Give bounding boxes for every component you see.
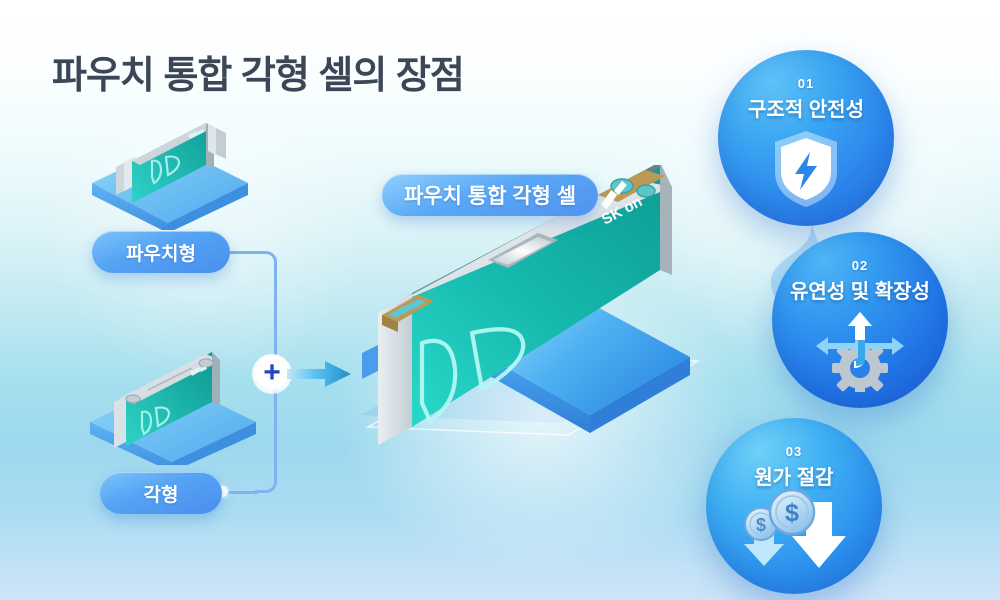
benefit-label-1: 구조적 안전성 bbox=[748, 93, 864, 122]
shield-bolt-icon bbox=[771, 128, 841, 210]
page-title: 파우치 통합 각형 셀의 장점 bbox=[52, 44, 464, 99]
label-integrated-cell[interactable]: 파우치 통합 각형 셀 bbox=[382, 174, 598, 216]
plus-icon: + bbox=[252, 354, 292, 394]
benefit-badge-2[interactable]: 02 유연성 및 확장성 bbox=[772, 232, 948, 408]
prismatic-cell-icon bbox=[80, 340, 270, 465]
benefit-label-2: 유연성 및 확장성 bbox=[790, 275, 930, 304]
svg-text:$: $ bbox=[756, 515, 766, 535]
pouch-cell-icon bbox=[80, 105, 260, 230]
benefit-number-2: 02 bbox=[852, 258, 868, 273]
gear-arrows-icon bbox=[812, 306, 908, 392]
infographic-canvas: 파우치 통합 각형 셀의 장점 bbox=[0, 0, 1000, 600]
benefit-badge-1[interactable]: 01 구조적 안전성 bbox=[718, 50, 894, 226]
plus-symbol: + bbox=[263, 358, 281, 388]
connector-corner-bottom bbox=[255, 471, 277, 493]
right-arrow-icon bbox=[287, 360, 351, 388]
benefit-number-1: 01 bbox=[798, 76, 814, 91]
label-pouch-type[interactable]: 파우치형 bbox=[92, 231, 230, 273]
benefit-number-3: 03 bbox=[786, 444, 802, 459]
coins-down-arrow-icon: $ $ bbox=[736, 488, 852, 582]
benefit-badge-3[interactable]: 03 원가 절감 $ $ bbox=[706, 418, 882, 594]
svg-text:$: $ bbox=[785, 499, 799, 527]
benefit-label-3: 원가 절감 bbox=[754, 461, 833, 490]
label-prismatic-type[interactable]: 각형 bbox=[100, 472, 222, 514]
